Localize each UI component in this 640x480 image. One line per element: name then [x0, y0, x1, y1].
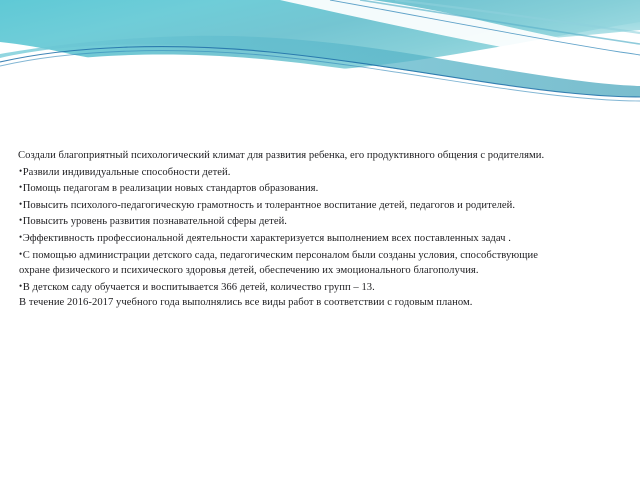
body-line: Эффективность профессиональной деятельно…	[0, 230, 640, 247]
teal-wave-banner-graphic	[0, 0, 640, 120]
body-line: Создали благоприятный психологический кл…	[0, 148, 640, 164]
body-line: С помощью администрации детского сада, п…	[0, 247, 640, 264]
body-line: В детском саду обучается и воспитывается…	[0, 279, 640, 296]
body-line-continuation: охране физического и психического здоров…	[0, 263, 640, 279]
body-line: Повысить психолого-педагогическую грамот…	[0, 197, 640, 214]
slide-body-text: Создали благоприятный психологический кл…	[0, 148, 640, 311]
slide-canvas: Создали благоприятный психологический кл…	[0, 0, 640, 480]
body-line-continuation: В течение 2016-2017 учебного года выполн…	[0, 295, 640, 311]
body-line: Развили индивидуальные способности детей…	[0, 164, 640, 181]
body-line: Помощь педагогам в реализации новых стан…	[0, 180, 640, 197]
body-line: Повысить уровень развития познавательной…	[0, 213, 640, 230]
